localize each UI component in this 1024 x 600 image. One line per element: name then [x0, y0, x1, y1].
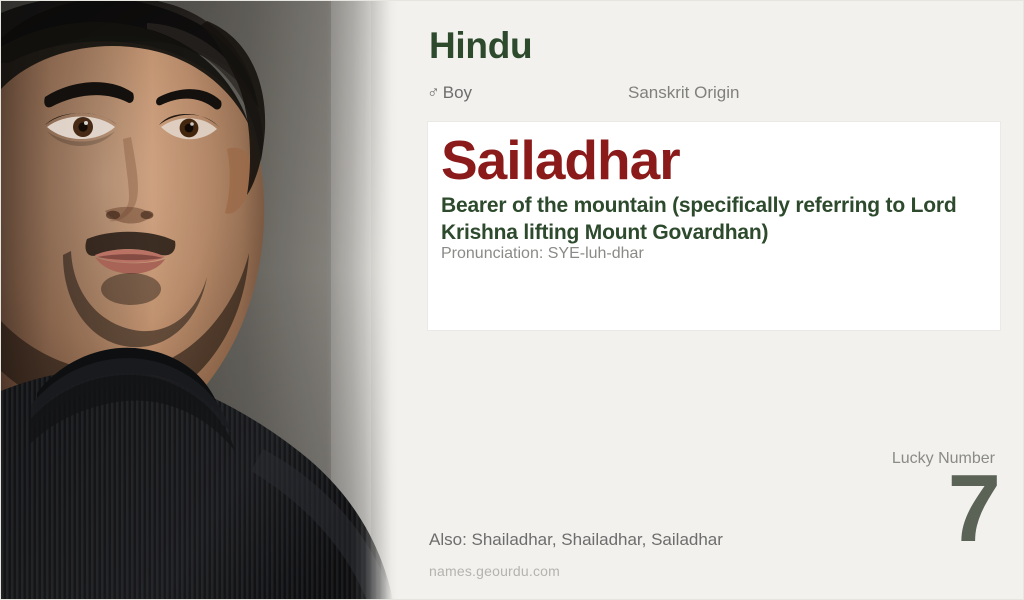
origin-label: Sanskrit Origin	[628, 83, 739, 103]
gender-text: Boy	[443, 83, 472, 102]
name-pronunciation: Pronunciation: SYE-luh-dhar	[441, 245, 644, 263]
name-meta-row: ♂Boy Sanskrit Origin	[427, 83, 987, 105]
name-info-card: Hindu ♂Boy Sanskrit Origin Sailadhar Bea…	[0, 0, 1024, 600]
gender-label: ♂Boy	[427, 83, 472, 103]
alternate-spellings: Also: Shailadhar, Shailadhar, Sailadhar	[429, 530, 723, 550]
lucky-number-block: Lucky Number 7	[749, 451, 999, 550]
name-title: Sailadhar	[441, 131, 680, 189]
portrait-photo	[1, 1, 398, 600]
info-panel: Hindu ♂Boy Sanskrit Origin Sailadhar Bea…	[398, 1, 1023, 599]
lucky-number-value: 7	[749, 469, 999, 550]
religion-title: Hindu	[429, 27, 532, 64]
male-symbol-icon: ♂	[427, 83, 440, 102]
site-watermark: names.geourdu.com	[429, 563, 560, 579]
portrait-photo-image	[1, 1, 398, 600]
name-detail-card: Sailadhar Bearer of the mountain (specif…	[427, 121, 1001, 331]
name-meaning: Bearer of the mountain (specifically ref…	[441, 193, 989, 246]
